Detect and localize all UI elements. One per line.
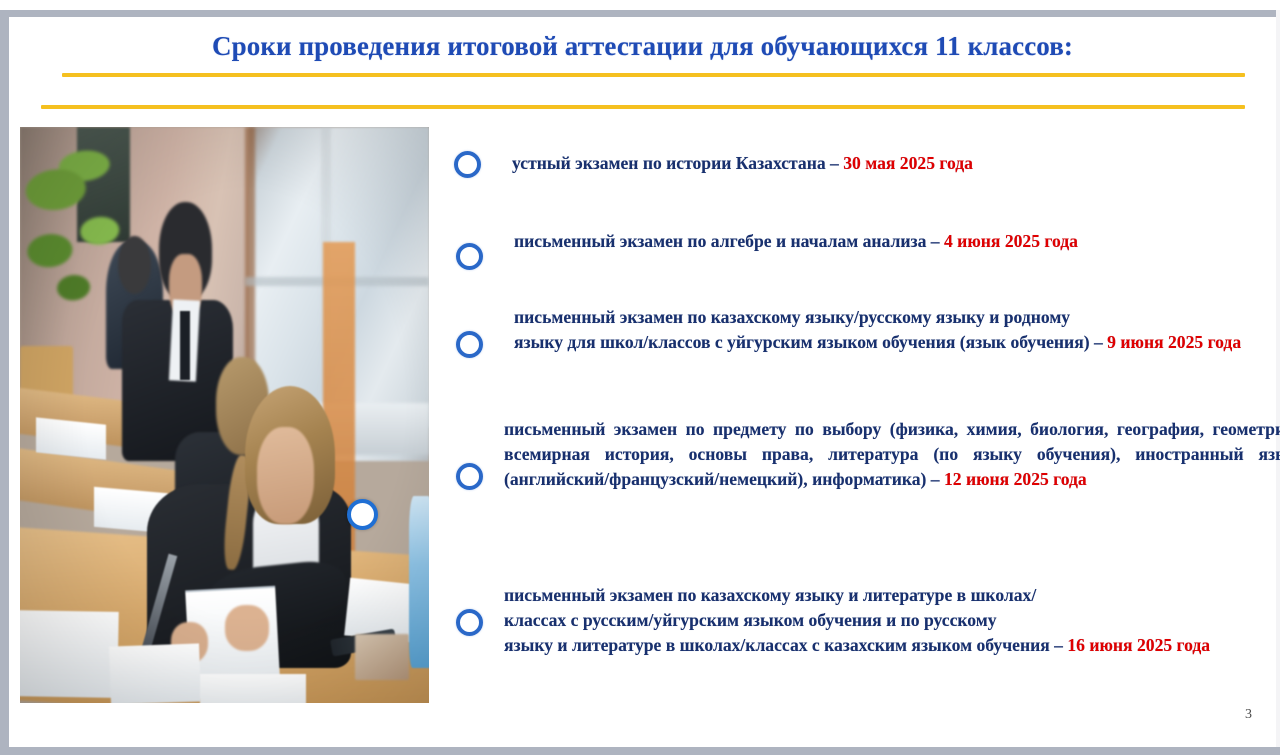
- bullet-ring-icon: [454, 151, 481, 178]
- photo-inner: [20, 127, 429, 703]
- exam-schedule-list: устный экзамен по истории Казахстана – 3…: [444, 135, 1264, 715]
- bullet-ring-icon: [456, 609, 483, 636]
- bullet-text-language: письменный экзамен по казахскому языку/р…: [514, 305, 1280, 355]
- bullet-text-history: устный экзамен по истории Казахстана – 3…: [512, 151, 1212, 176]
- bullet-body: устный экзамен по истории Казахстана –: [512, 153, 843, 173]
- bullet-body: письменный экзамен по алгебре и началам …: [514, 231, 944, 251]
- bullet-ring-icon: [456, 243, 483, 270]
- bullet-text-algebra: письменный экзамен по алгебре и началам …: [514, 229, 1204, 254]
- viewer-bottom-bar: [0, 747, 1280, 755]
- bullet-date: 12 июня 2025 года: [944, 469, 1087, 489]
- slide-root: Сроки проведения итоговой аттестации для…: [0, 0, 1280, 755]
- bullet-body-line1: письменный экзамен по казахскому языку и…: [504, 583, 1280, 608]
- bullet-ring-icon: [456, 331, 483, 358]
- page-title: Сроки проведения итоговой аттестации для…: [9, 31, 1276, 62]
- photo-marker-dot-icon: [347, 499, 378, 530]
- bullet-date: 4 июня 2025 года: [944, 231, 1078, 251]
- bullet-ring-icon: [456, 463, 483, 490]
- bullet-date: 9 июня 2025 года: [1107, 332, 1241, 352]
- bullet-body-line3: языку и литературе в школах/классах с ка…: [504, 635, 1067, 655]
- viewer-left-bar: [0, 10, 9, 755]
- slide-canvas: Сроки проведения итоговой аттестации для…: [9, 17, 1276, 747]
- bullet-text-kazakh-literature: письменный экзамен по казахскому языку и…: [504, 583, 1280, 658]
- viewer-top-bar: [0, 10, 1280, 17]
- bullet-body-line2: классах с русским/уйгурским языком обуче…: [504, 608, 1280, 633]
- title-block: Сроки проведения итоговой аттестации для…: [9, 31, 1276, 62]
- title-rule-top: [62, 73, 1245, 77]
- classroom-exam-photo: [20, 127, 429, 703]
- page-number: 3: [1245, 707, 1252, 723]
- bullet-body-line1: письменный экзамен по казахскому языку/р…: [514, 305, 1280, 330]
- bullet-body: письменный экзамен по предмету по выбору…: [504, 419, 1280, 489]
- bullet-date: 16 июня 2025 года: [1067, 635, 1210, 655]
- bullet-body-line2: языку для школ/классов с уйгурским языко…: [514, 332, 1107, 352]
- photo-vignette: [20, 127, 429, 703]
- title-rule-bottom: [41, 105, 1245, 109]
- bullet-text-elective: письменный экзамен по предмету по выбору…: [504, 417, 1280, 492]
- bullet-date: 30 мая 2025 года: [843, 153, 973, 173]
